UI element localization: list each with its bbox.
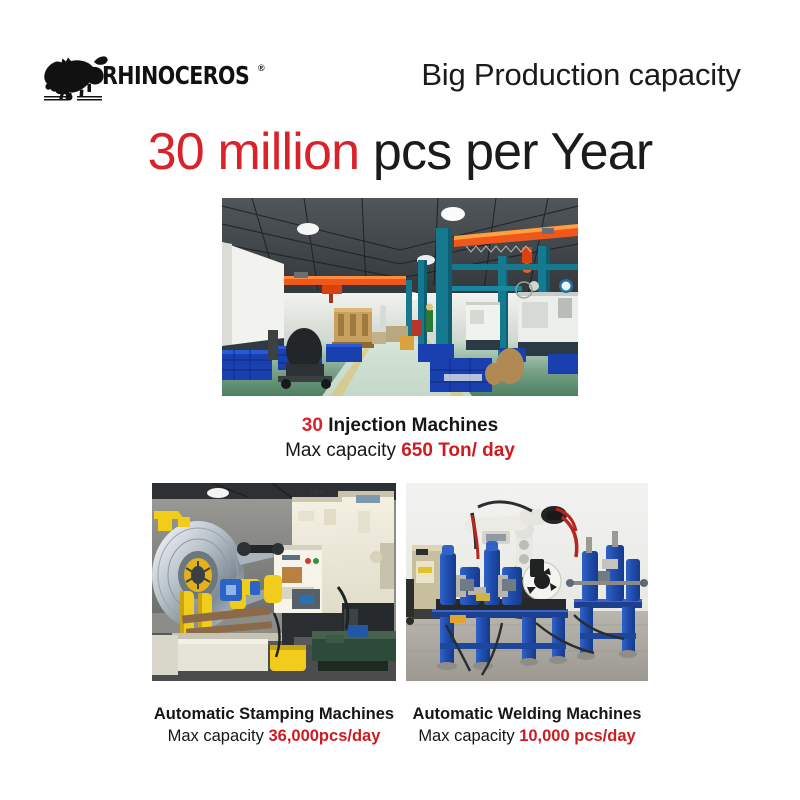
caption-welding-capacity-prefix: Max capacity <box>418 727 519 745</box>
caption-injection: 30 Injection Machines Max capacity 650 T… <box>200 415 600 463</box>
caption-welding-capacity-value: 10,000 pcs/day <box>519 727 636 745</box>
caption-stamping-capacity-prefix: Max capacity <box>168 727 269 745</box>
caption-injection-line2: Max capacity 650 Ton/ day <box>200 440 600 462</box>
svg-text:SEYI: SEYI <box>309 489 324 497</box>
page-title: Big Production capacity <box>396 57 766 93</box>
caption-stamping: Automatic Stamping Machines Max capacity… <box>140 705 408 747</box>
photo-welding-cell <box>406 483 648 681</box>
header: RHINOCEROS ® Big Production capacity <box>0 0 800 118</box>
photo-injection-workshop <box>222 198 578 396</box>
caption-stamping-capacity-value: 36,000pcs/day <box>268 727 380 745</box>
photo-stamping-machine: SEYI <box>152 483 396 681</box>
brand-logo[interactable]: RHINOCEROS ® <box>40 52 236 104</box>
rhino-silhouette-icon <box>40 52 108 102</box>
caption-stamping-line2: Max capacity 36,000pcs/day <box>140 727 408 746</box>
registered-trademark-symbol: ® <box>258 63 265 73</box>
headline-accent: 30 million <box>148 123 360 181</box>
caption-injection-line1: 30 Injection Machines <box>200 415 600 437</box>
caption-welding-line2: Max capacity 10,000 pcs/day <box>396 727 658 746</box>
caption-injection-capacity-prefix: Max capacity <box>285 440 401 461</box>
caption-injection-capacity-value: 650 Ton/ day <box>401 440 515 461</box>
caption-injection-count: 30 <box>302 415 323 436</box>
caption-welding-line1: Automatic Welding Machines <box>396 705 658 724</box>
caption-stamping-line1: Automatic Stamping Machines <box>140 705 408 724</box>
headline: 30 million pcs per Year <box>0 126 800 178</box>
brand-wordmark: RHINOCEROS <box>102 61 249 90</box>
headline-rest: pcs per Year <box>359 123 652 181</box>
caption-injection-label: Injection Machines <box>323 415 498 436</box>
caption-welding: Automatic Welding Machines Max capacity … <box>396 705 658 747</box>
